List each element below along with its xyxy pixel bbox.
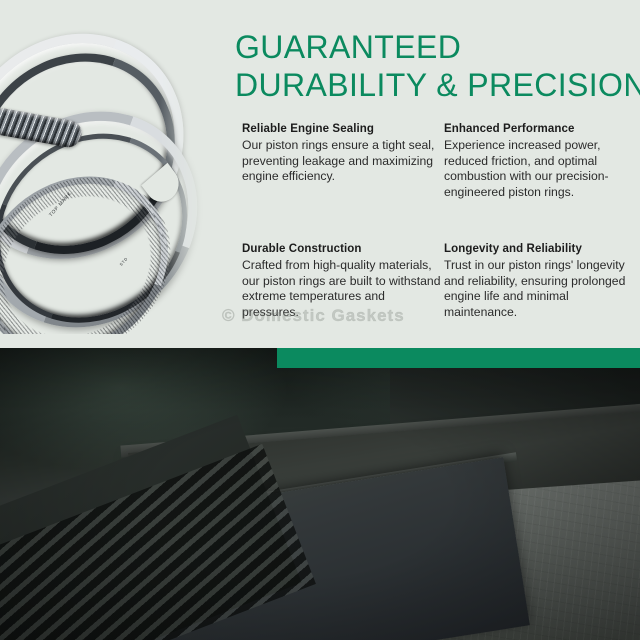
feature-title: Reliable Engine Sealing [242, 122, 442, 137]
top-content-panel: TOP MARK STD GUARANTEED DURABILITY & PRE… [0, 0, 640, 348]
copyright-watermark: © Domestic Gaskets [222, 306, 405, 326]
feature-body: Our piston rings ensure a tight seal, pr… [242, 138, 442, 185]
feature-body: Experience increased power, reduced fric… [444, 138, 632, 200]
headline-line-2: DURABILITY & PRECISION [235, 66, 635, 104]
feature-longevity-and-reliability: Longevity and Reliability Trust in our p… [444, 242, 632, 320]
feature-enhanced-performance: Enhanced Performance Experience increase… [444, 122, 632, 242]
image-fade-mask [160, 14, 220, 334]
piston-rings-product-image: TOP MARK STD [0, 14, 220, 334]
promo-graphic: TOP MARK STD GUARANTEED DURABILITY & PRE… [0, 0, 640, 640]
foundry-forge-photo: 15 [0, 348, 640, 640]
feature-title: Longevity and Reliability [444, 242, 632, 257]
green-accent-band [277, 348, 640, 368]
page-title: GUARANTEED DURABILITY & PRECISION [235, 28, 635, 104]
feature-title: Durable Construction [242, 242, 442, 257]
feature-grid: Reliable Engine Sealing Our piston rings… [242, 122, 630, 320]
headline-line-1: GUARANTEED [235, 28, 635, 66]
feature-body: Trust in our piston rings' longevity and… [444, 258, 632, 320]
feature-reliable-engine-sealing: Reliable Engine Sealing Our piston rings… [242, 122, 442, 242]
feature-title: Enhanced Performance [444, 122, 632, 137]
